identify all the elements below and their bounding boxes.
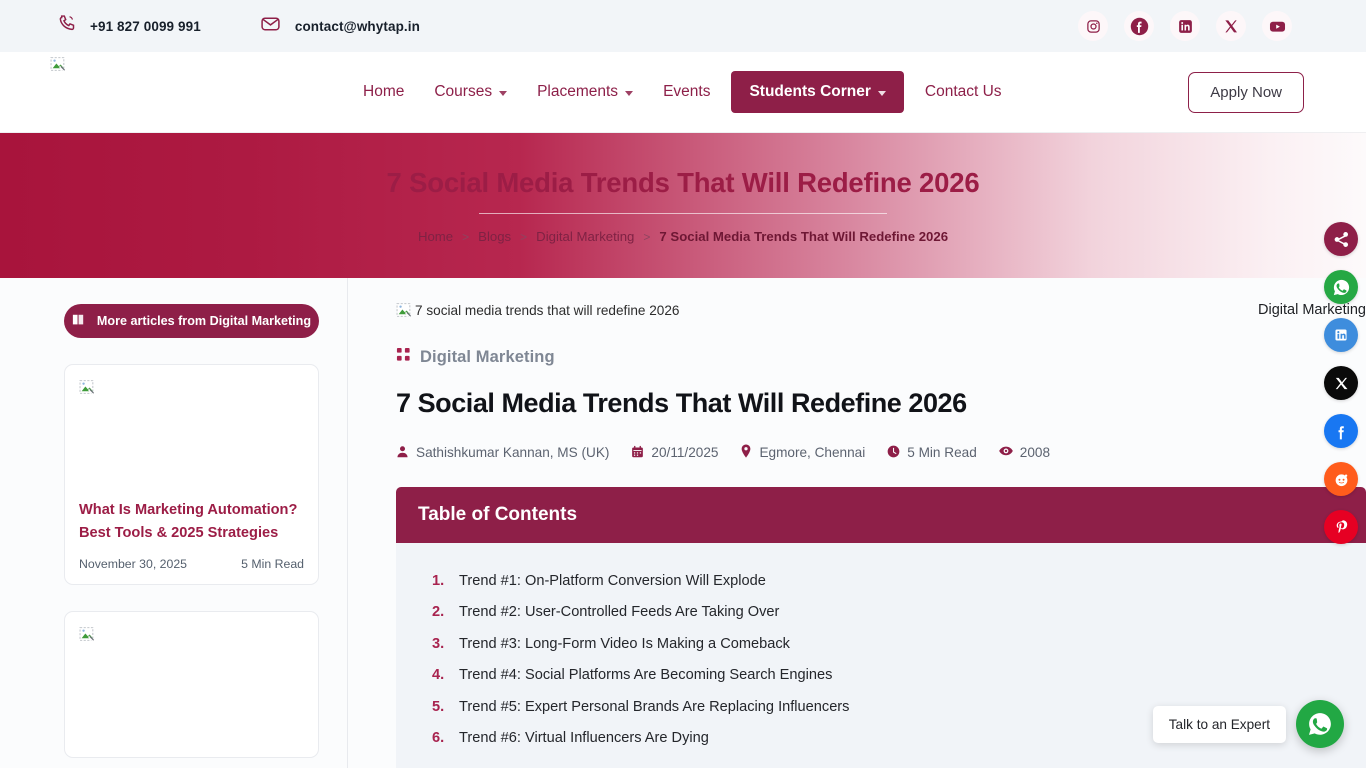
- toc-item-label: Trend #4: Social Platforms Are Becoming …: [459, 667, 832, 683]
- broken-image-icon: [50, 56, 67, 73]
- main-navigation-bar: Home Courses Placements Events Students …: [0, 52, 1366, 133]
- page-root: +91 827 0099 991 contact@whytap.in: [0, 0, 1366, 768]
- chevron-down-icon: [878, 91, 886, 96]
- facebook-icon[interactable]: [1324, 414, 1358, 448]
- map-pin-icon: [740, 444, 752, 461]
- article-main: 7 social media trends that will redefine…: [348, 278, 1366, 768]
- email-address: contact@whytap.in: [295, 19, 420, 34]
- article-view-count-value: 2008: [1020, 445, 1050, 460]
- eye-icon: [999, 445, 1013, 460]
- phone-contact[interactable]: +91 827 0099 991: [56, 13, 201, 39]
- nav-item-events[interactable]: Events: [648, 71, 725, 113]
- article-author-name: Sathishkumar Kannan, MS (UK): [416, 445, 609, 460]
- related-articles-sidebar: More articles from Digital Marketing: [0, 278, 348, 768]
- apply-now-button[interactable]: Apply Now: [1188, 72, 1304, 113]
- toc-item[interactable]: 3. Trend #3: Long-Form Video Is Making a…: [418, 628, 1344, 660]
- envelope-icon: [259, 12, 282, 40]
- article-location: Egmore, Chennai: [740, 444, 865, 461]
- broken-image-icon: [396, 302, 413, 319]
- article-category[interactable]: Digital Marketing: [396, 347, 1366, 367]
- x-icon[interactable]: [1324, 366, 1358, 400]
- article-view-count: 2008: [999, 445, 1050, 460]
- sidebar-card-thumbnail: [79, 626, 304, 744]
- whatsapp-icon[interactable]: [1324, 270, 1358, 304]
- youtube-icon[interactable]: [1262, 11, 1292, 41]
- breadcrumb-item-digital-marketing[interactable]: Digital Marketing: [536, 229, 634, 244]
- share-icon[interactable]: [1324, 222, 1358, 256]
- toc-item-number: 4.: [432, 667, 447, 683]
- calendar-icon: [631, 445, 644, 461]
- linkedin-icon[interactable]: [1324, 318, 1358, 352]
- floating-share-rail: [1324, 222, 1358, 544]
- nav-item-label: Contact Us: [925, 71, 1002, 113]
- nav-item-contact-us[interactable]: Contact Us: [910, 71, 1017, 113]
- linkedin-icon[interactable]: [1170, 11, 1200, 41]
- nav-item-home[interactable]: Home: [348, 71, 419, 113]
- chevron-down-icon: [625, 91, 633, 96]
- nav-item-placements[interactable]: Placements: [522, 71, 648, 113]
- list-item[interactable]: [64, 611, 319, 758]
- toc-item-label: Trend #6: Virtual Influencers Are Dying: [459, 730, 709, 746]
- toc-item[interactable]: 4. Trend #4: Social Platforms Are Becomi…: [418, 660, 1344, 692]
- sidebar-card-thumbnail: [79, 379, 304, 477]
- user-icon: [396, 445, 409, 461]
- article-read-time: 5 Min Read: [887, 445, 977, 461]
- nav-item-label: Home: [363, 71, 404, 113]
- pinterest-icon[interactable]: [1324, 510, 1358, 544]
- article-category-label: Digital Marketing: [420, 348, 555, 367]
- article-location-value: Egmore, Chennai: [759, 445, 865, 460]
- instagram-icon[interactable]: [1078, 11, 1108, 41]
- nav-links: Home Courses Placements Events Students …: [348, 71, 1017, 113]
- breadcrumb-separator: >: [643, 230, 650, 244]
- sidebar-header-label: More articles from Digital Marketing: [97, 314, 311, 328]
- nav-item-label: Courses: [434, 71, 492, 113]
- article-author: Sathishkumar Kannan, MS (UK): [396, 445, 609, 461]
- nav-item-label: Events: [663, 71, 710, 113]
- article-read-time-value: 5 Min Read: [907, 445, 977, 460]
- chat-widget: Talk to an Expert: [1153, 700, 1344, 748]
- article-meta-row: Sathishkumar Kannan, MS (UK): [396, 444, 1366, 461]
- toc-item-label: Trend #3: Long-Form Video Is Making a Co…: [459, 636, 790, 652]
- toc-item-number: 5.: [432, 699, 447, 715]
- hero-banner: 7 Social Media Trends That Will Redefine…: [0, 133, 1366, 278]
- social-links-group: [1078, 11, 1292, 41]
- site-logo[interactable]: [50, 52, 260, 132]
- nav-item-label: Students Corner: [749, 71, 870, 113]
- breadcrumb-separator: >: [520, 230, 527, 244]
- whatsapp-chat-button[interactable]: [1296, 700, 1344, 748]
- page-title: 7 Social Media Trends That Will Redefine…: [387, 167, 980, 199]
- facebook-icon[interactable]: [1124, 11, 1154, 41]
- broken-image-icon: [79, 379, 96, 396]
- sidebar-card-title: What Is Marketing Automation? Best Tools…: [79, 499, 304, 545]
- article-date-value: 20/11/2025: [651, 445, 718, 460]
- grid-icon: [396, 347, 411, 367]
- nav-item-students-corner[interactable]: Students Corner: [731, 71, 903, 113]
- breadcrumb-item-blogs[interactable]: Blogs: [478, 229, 511, 244]
- phone-icon: [56, 13, 77, 39]
- content-area: More articles from Digital Marketing: [0, 278, 1366, 768]
- toc-item[interactable]: 2. Trend #2: User-Controlled Feeds Are T…: [418, 597, 1344, 629]
- talk-to-expert-button[interactable]: Talk to an Expert: [1153, 706, 1286, 743]
- toc-item-label: Trend #5: Expert Personal Brands Are Rep…: [459, 699, 849, 715]
- article-date: 20/11/2025: [631, 445, 718, 461]
- article-title: 7 Social Media Trends That Will Redefine…: [396, 388, 1366, 419]
- sidebar-card-date: November 30, 2025: [79, 557, 187, 571]
- breadcrumb-separator: >: [462, 230, 469, 244]
- contact-info-group: +91 827 0099 991 contact@whytap.in: [56, 12, 420, 40]
- sidebar-header-pill[interactable]: More articles from Digital Marketing: [64, 304, 319, 338]
- phone-number: +91 827 0099 991: [90, 19, 201, 34]
- hero-divider: [479, 213, 887, 214]
- toc-item-number: 6.: [432, 730, 447, 746]
- broken-image-icon: [79, 626, 96, 643]
- toc-item-number: 1.: [432, 573, 447, 589]
- x-icon[interactable]: [1216, 11, 1246, 41]
- toc-item-label: Trend #2: User-Controlled Feeds Are Taki…: [459, 604, 779, 620]
- breadcrumb: Home > Blogs > Digital Marketing > 7 Soc…: [418, 229, 948, 244]
- article-hero-image: 7 social media trends that will redefine…: [396, 300, 1366, 320]
- clock-icon: [887, 445, 900, 461]
- book-icon: [72, 313, 86, 329]
- toc-item[interactable]: 1. Trend #1: On-Platform Conversion Will…: [418, 565, 1344, 597]
- breadcrumb-item-home[interactable]: Home: [418, 229, 453, 244]
- breadcrumb-item-current: 7 Social Media Trends That Will Redefine…: [659, 229, 948, 244]
- chevron-down-icon: [499, 91, 507, 96]
- toc-item-label: Trend #1: On-Platform Conversion Will Ex…: [459, 573, 766, 589]
- sidebar-card-read-time: 5 Min Read: [241, 557, 304, 571]
- toc-item-number: 3.: [432, 636, 447, 652]
- article-hero-image-alt: 7 social media trends that will redefine…: [415, 303, 679, 318]
- list-item[interactable]: What Is Marketing Automation? Best Tools…: [64, 364, 319, 585]
- toc-item-number: 2.: [432, 604, 447, 620]
- top-utility-bar: +91 827 0099 991 contact@whytap.in: [0, 0, 1366, 52]
- table-of-contents-heading: Table of Contents: [396, 487, 1366, 543]
- reddit-icon[interactable]: [1324, 462, 1358, 496]
- nav-item-label: Placements: [537, 71, 618, 113]
- nav-item-courses[interactable]: Courses: [419, 71, 522, 113]
- email-contact[interactable]: contact@whytap.in: [259, 12, 420, 40]
- sidebar-card-meta: November 30, 2025 5 Min Read: [79, 557, 304, 571]
